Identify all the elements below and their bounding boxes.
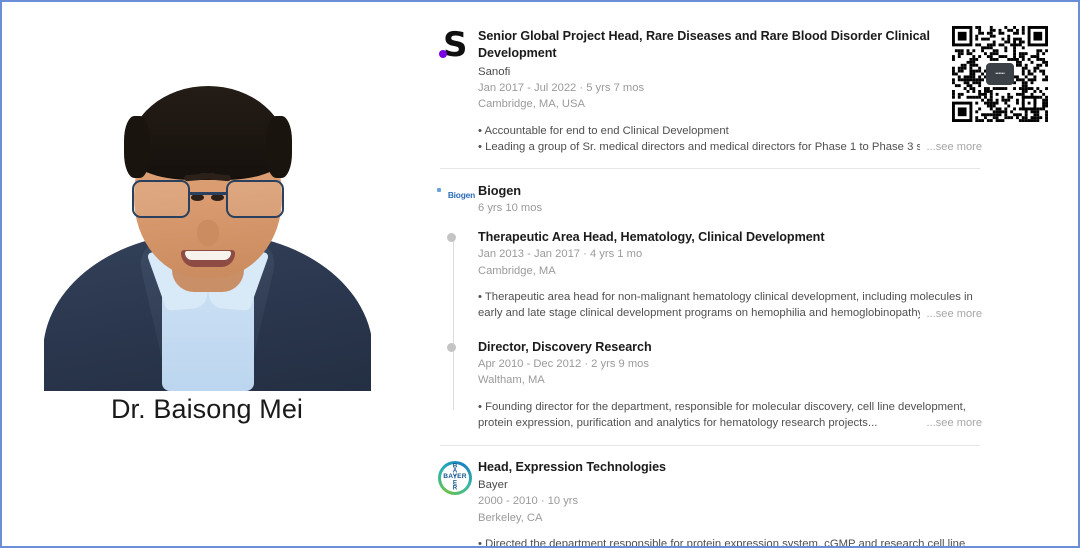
description-line: • Founding director for the department, … [478,399,980,415]
bayer-wordmark-vertical: BAYER [453,463,457,492]
job-title: Therapeutic Area Head, Hematology, Clini… [478,229,980,246]
section-divider [440,168,980,169]
job-description: • Directed the department responsible fo… [478,536,980,548]
role-timeline-spine [453,241,454,409]
description-line: protein expression, purification and ana… [478,415,980,431]
job-location: Cambridge, MA [478,263,980,279]
experience-list: S Senior Global Project Head, Rare Disea… [432,28,980,548]
job-description: • Therapeutic area head for non-malignan… [478,289,980,322]
portrait-photo [44,24,371,391]
slide-canvas: Dr. Baisong Mei S Senior Global Project … [0,0,1080,548]
company-name: Bayer [478,477,980,494]
job-location: Berkeley, CA [478,510,980,526]
see-more-link[interactable]: ...see more [920,306,983,322]
description-line: • Accountable for end to end Clinical De… [478,123,980,139]
see-more-link[interactable]: ...see more [920,139,983,155]
photo-nose [197,220,219,246]
role-bullet-icon [447,343,456,352]
employment-dates: Apr 2010 - Dec 2012 · 2 yrs 9 mos [478,356,980,372]
headshot-image [44,24,371,391]
sanofi-letter: S [443,28,468,62]
description-line: • Leading a group of Sr. medical directo… [478,139,980,155]
experience-item-sanofi[interactable]: S Senior Global Project Head, Rare Disea… [432,28,980,155]
photo-lens-left [132,180,190,218]
experience-item-biogen[interactable]: Biogen Biogen 6 yrs 10 mos Therapeutic A… [432,182,980,431]
photo-lens-right [226,180,284,218]
portrait-pane: Dr. Baisong Mei [2,2,412,548]
employment-dates: 2000 - 2010 · 10 yrs [478,493,980,509]
qr-code[interactable]: •••••• [952,26,1048,122]
sanofi-dot-icon [439,50,447,58]
job-title: Senior Global Project Head, Rare Disease… [478,28,980,63]
company-logo-cell: Biogen [432,182,478,206]
company-group-name: Biogen [478,182,980,200]
company-logo-cell: BAYER BAYER [432,459,478,495]
job-location: Cambridge, MA, USA [478,96,980,112]
company-total-duration: 6 yrs 10 mos [478,200,980,216]
section-divider [440,445,980,446]
job-description: • Accountable for end to end Clinical De… [478,123,980,156]
bayer-cross-mark: BAYER BAYER [441,464,469,492]
role-biogen-ta-head[interactable]: Therapeutic Area Head, Hematology, Clini… [478,229,980,322]
employment-dates: Jan 2017 - Jul 2022 · 5 yrs 7 mos [478,80,980,96]
experience-item-bayer[interactable]: BAYER BAYER Head, Expression Technologie… [432,459,980,548]
biogen-logo-icon: Biogen [435,184,475,206]
bayer-logo-icon: BAYER BAYER [438,461,472,495]
description-line: • Therapeutic area head for non-malignan… [478,289,980,305]
see-more-link[interactable]: ...see more [920,415,983,431]
company-logo-cell: S [432,28,478,64]
job-title: Head, Expression Technologies [478,459,980,476]
role-bullet-icon [447,233,456,242]
job-description: • Founding director for the department, … [478,399,980,432]
biogen-wordmark: Biogen [448,190,475,200]
job-title: Director, Discovery Research [478,339,980,356]
nested-roles: Therapeutic Area Head, Hematology, Clini… [432,229,980,431]
photo-eyeglasses [132,180,284,220]
photo-hair [128,86,288,180]
employment-dates: Jan 2013 - Jan 2017 · 4 yrs 1 mo [478,246,980,262]
job-location: Waltham, MA [478,372,980,388]
person-name: Dr. Baisong Mei [2,394,412,425]
sanofi-logo-icon: S [438,30,472,64]
role-biogen-director[interactable]: Director, Discovery Research Apr 2010 - … [478,339,980,432]
qr-logo-glyph: •••••• [995,71,1004,77]
description-line: • Directed the department responsible fo… [478,536,980,548]
description-line: early and late stage clinical developmen… [478,305,980,321]
photo-teeth [185,251,231,260]
company-name: Sanofi [478,64,980,81]
photo-mouth [181,250,235,267]
photo-glasses-bridge [190,192,226,195]
biogen-mark-icon [437,188,441,192]
qr-center-logo: •••••• [986,63,1014,85]
